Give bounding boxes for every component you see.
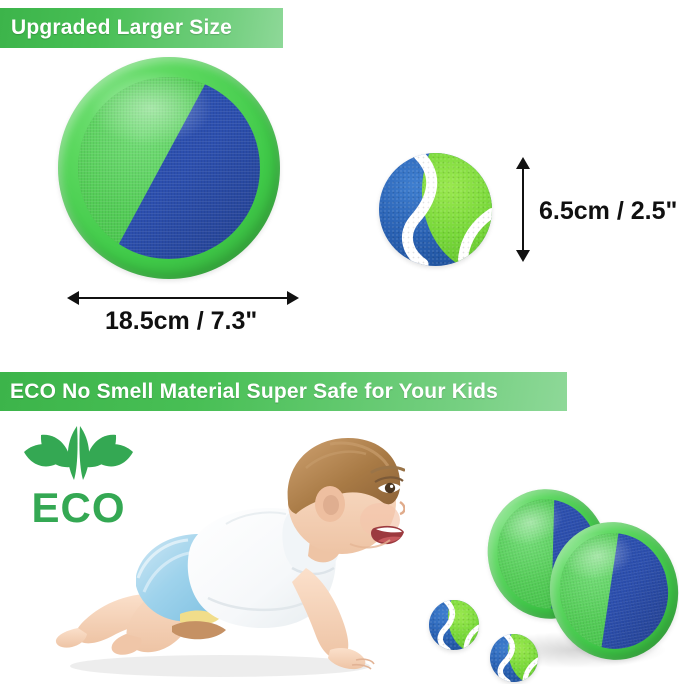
paddle-front bbox=[539, 512, 679, 670]
arrow-down-icon bbox=[516, 250, 530, 262]
dimension-label-ball-height: 6.5cm / 2.5" bbox=[539, 197, 677, 226]
banner-eco-label: ECO No Smell Material Super Safe for You… bbox=[10, 380, 498, 404]
paddle-face-texture bbox=[78, 77, 260, 259]
ball-small-1-texture bbox=[429, 600, 479, 650]
baby-crawling-photo bbox=[30, 428, 405, 680]
paddle-front-texture bbox=[551, 525, 677, 658]
banner-upgraded-label: Upgraded Larger Size bbox=[11, 16, 232, 40]
paddle-front-face bbox=[551, 525, 677, 658]
dimension-label-paddle-width: 18.5cm / 7.3" bbox=[105, 307, 257, 336]
ball-small-1 bbox=[429, 600, 479, 650]
dimension-line-height bbox=[522, 168, 524, 252]
arrow-up-icon bbox=[516, 157, 530, 169]
ball-small-2-texture bbox=[490, 634, 538, 682]
banner-eco-no-smell-material: ECO No Smell Material Super Safe for You… bbox=[0, 372, 567, 411]
dimension-line-width bbox=[74, 297, 289, 299]
paddle-large bbox=[58, 57, 280, 279]
arrow-right-icon bbox=[287, 291, 299, 305]
ball-small-2 bbox=[490, 634, 538, 682]
ball-texture bbox=[379, 153, 492, 266]
banner-upgraded-larger-size: Upgraded Larger Size bbox=[0, 8, 283, 48]
paddle-velcro-face bbox=[78, 77, 260, 259]
arrow-left-icon bbox=[67, 291, 79, 305]
product-group-bottom-right bbox=[405, 482, 679, 684]
ball-large bbox=[379, 153, 492, 266]
baby-floor-shadow bbox=[70, 655, 370, 677]
